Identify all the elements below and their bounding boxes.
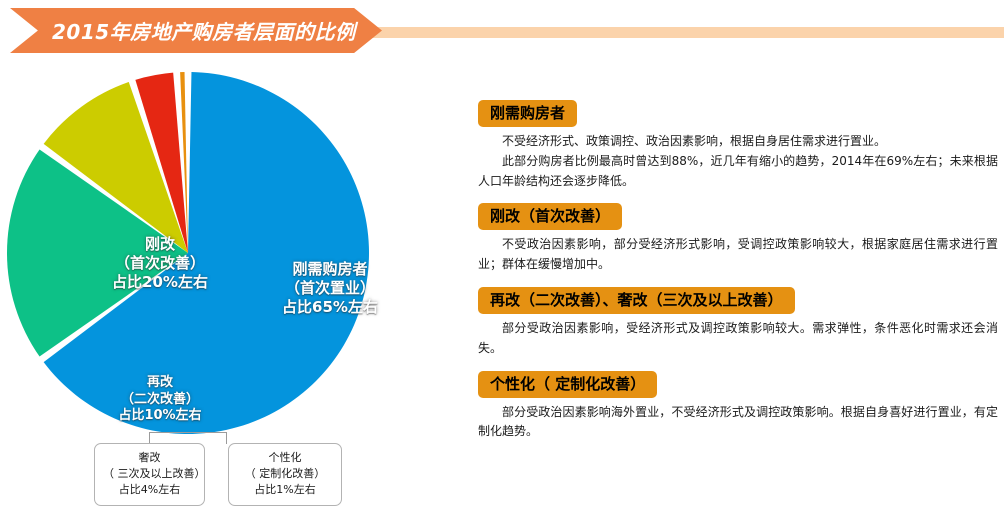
callout-line-3: 占比1%左右 [237, 482, 333, 498]
section-badge[interactable]: 再改（二次改善）、奢改（三次及以上改善） [478, 287, 795, 314]
section-body: 部分受政治因素影响海外置业，不受经济形式及调控政策影响。根据自身喜好进行置业，有… [478, 403, 998, 443]
section-paragraph-2: 此部分购房者比例最高时曾达到88%，近几年有缩小的趋势，2014年在69%左右；… [478, 152, 998, 192]
section-badge[interactable]: 刚需购房者 [478, 100, 577, 127]
section-badge[interactable]: 个性化（ 定制化改善） [478, 371, 657, 398]
section-second-and-luxury-upgrade: 再改（二次改善）、奢改（三次及以上改善） 部分受政治因素影响，受经济形式及调控政… [478, 287, 998, 359]
section-paragraph-1: 部分受政治因素影响海外置业，不受经济形式及调控政策影响。根据自身喜好进行置业，有… [478, 405, 998, 439]
callout-line-2: （ 三次及以上改善） [103, 466, 196, 482]
slide-canvas: 2015年房地产购房者层面的比例 刚需购房者 （首次置业） 占比65%左右 刚改… [0, 0, 1004, 520]
section-paragraph-1: 不受经济形式、政策调控、政治因素影响，根据自身居住需求进行置业。 [502, 134, 886, 148]
section-first-upgrade: 刚改（首次改善） 不受政治因素影响，部分受经济形式影响，受调控政策影响较大，根据… [478, 203, 998, 275]
callout-line-2: （ 定制化改善） [237, 466, 333, 482]
header-banner: 2015年房地产购房者层面的比例 [0, 0, 1004, 60]
section-body: 不受经济形式、政策调控、政治因素影响，根据自身居住需求进行置业。 此部分购房者比… [478, 132, 998, 191]
banner-rule-line [363, 27, 1004, 38]
page-title: 2015年房地产购房者层面的比例 [52, 8, 356, 53]
section-body: 部分受政治因素影响，受经济形式及调控政策影响较大。需求弹性，条件恶化时需求还会消… [478, 319, 998, 359]
callout-customized[interactable]: 个性化 （ 定制化改善） 占比1%左右 [228, 443, 342, 506]
callout-leader-line-custom [226, 432, 227, 444]
section-badge[interactable]: 刚改（首次改善） [478, 203, 622, 230]
section-customized: 个性化（ 定制化改善） 部分受政治因素影响海外置业，不受经济形式及调控政策影响。… [478, 371, 998, 443]
callout-leader-connector [149, 432, 227, 433]
callout-line-1: 个性化 [237, 450, 333, 466]
description-panel: 刚需购房者 不受经济形式、政策调控、政治因素影响，根据自身居住需求进行置业。 此… [478, 100, 998, 454]
section-paragraph-1: 不受政治因素影响，部分受经济形式影响，受调控政策影响较大，根据家庭居住需求进行置… [478, 237, 998, 271]
callout-luxury-upgrade[interactable]: 奢改 （ 三次及以上改善） 占比4%左右 [94, 443, 205, 506]
section-first-home-buyer: 刚需购房者 不受经济形式、政策调控、政治因素影响，根据自身居住需求进行置业。 此… [478, 100, 998, 191]
callout-line-1: 奢改 [103, 450, 196, 466]
section-paragraph-1: 部分受政治因素影响，受经济形式及调控政策影响较大。需求弹性，条件恶化时需求还会消… [478, 321, 998, 355]
section-body: 不受政治因素影响，部分受经济形式影响，受调控政策影响较大，根据家庭居住需求进行置… [478, 235, 998, 275]
callout-line-3: 占比4%左右 [103, 482, 196, 498]
